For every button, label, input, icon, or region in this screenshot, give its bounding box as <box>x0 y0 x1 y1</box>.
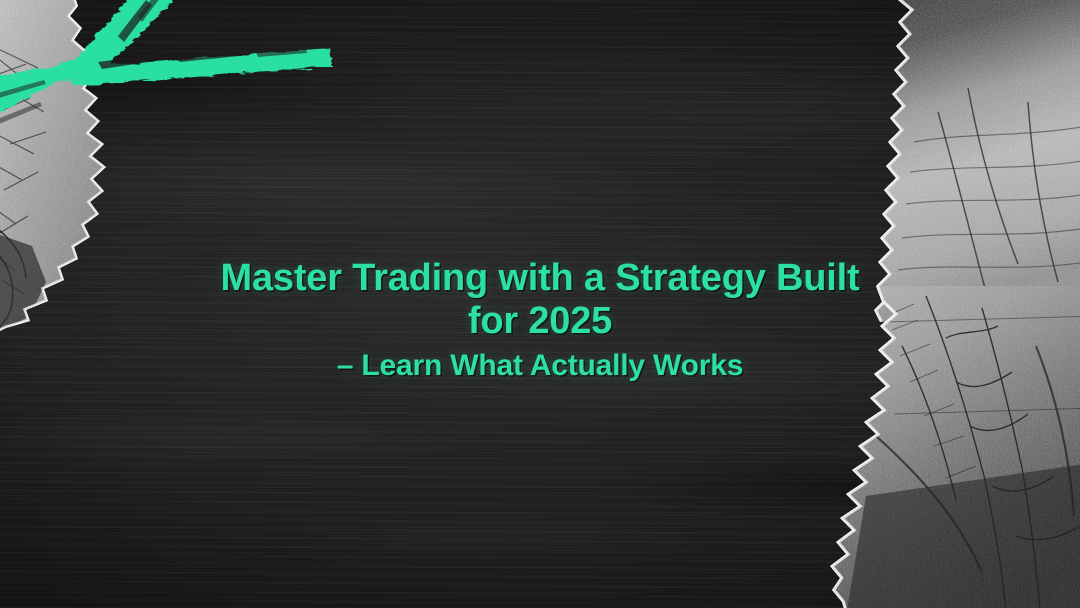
headline-line-1: Master Trading with a Strategy Built <box>0 258 1080 299</box>
headline-block: Master Trading with a Strategy Built for… <box>0 258 1080 382</box>
headline-line-2: for 2025 <box>0 301 1080 342</box>
headline-line-3: – Learn What Actually Works <box>0 350 1080 382</box>
slide-canvas: Master Trading with a Strategy Built for… <box>0 0 1080 608</box>
green-brush-stroke-icon <box>0 0 370 162</box>
